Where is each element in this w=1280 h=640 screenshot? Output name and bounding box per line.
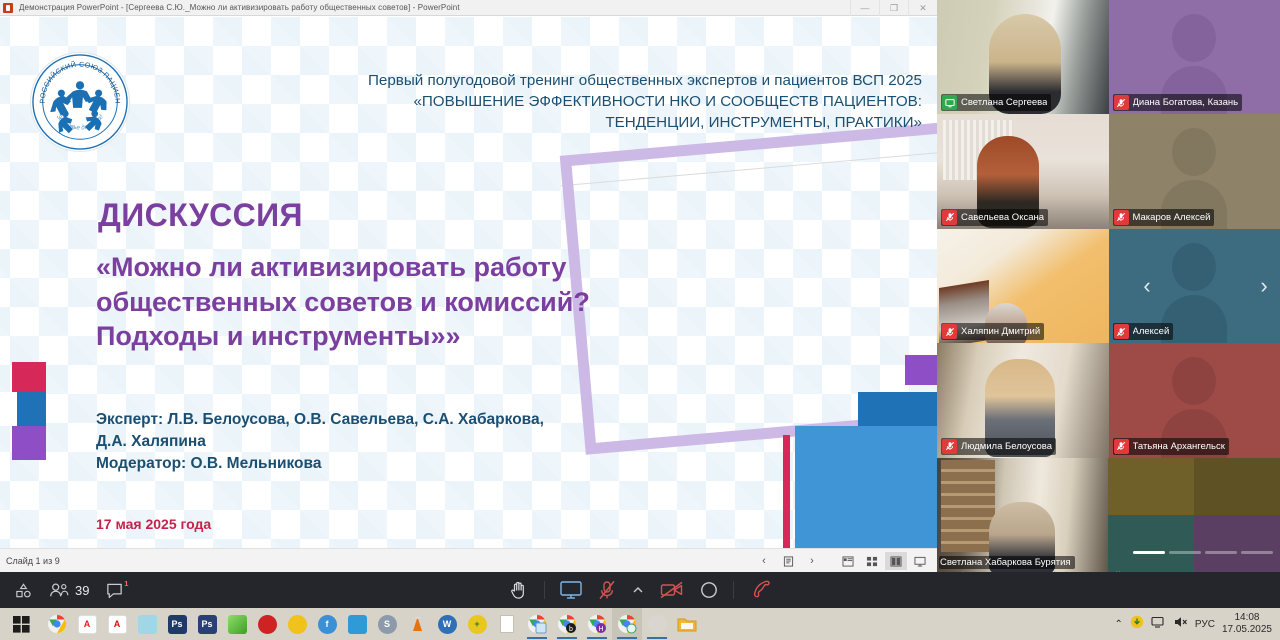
slide-header-line-1: Первый полугодовой тренинг общественных … [150,71,922,92]
windows-start-icon[interactable] [0,608,42,640]
vsp-logo-graphic: ВСЕРОССИЙСКИЙ СОЮЗ ПАЦИЕНТОВ Здоровье дл… [31,52,129,152]
restore-button[interactable]: ❐ [879,0,908,16]
window-controls: — ❐ ✕ [850,0,937,16]
taskbar-icon-plus-yellow[interactable]: + [462,608,492,640]
participant-tile[interactable]: Макаров Алексей [1109,114,1280,228]
mic-muted-icon [942,439,957,454]
slide-subtitle-line-2: общественных советов и комиссий? [96,285,796,320]
participant-name: Алексей [1133,326,1170,337]
participant-tile[interactable]: Светлана Сергеева [937,0,1109,114]
taskbar-icon-chrome-window-2[interactable]: b [552,608,582,640]
meeting-toolbar-center [508,572,772,608]
participant-name-badge: Макаров Алексей [1113,209,1215,226]
clock-time: 14:08 [1222,612,1272,625]
volume-muted-icon[interactable] [1173,615,1188,634]
page-dot[interactable] [1133,551,1165,554]
next-slide-icon[interactable]: › [801,552,823,570]
taskbar-icon-acrobat[interactable]: A [102,608,132,640]
taskbar-icon-camera-red[interactable] [252,608,282,640]
decor-left-crimson-square [12,362,46,396]
decor-left-blue-square [12,392,46,426]
screen-share-icon [942,95,957,110]
windows-taskbar: A A Ps Ps f S W + b H [0,608,1280,640]
taskbar-icon-antivirus[interactable] [222,608,252,640]
meeting-toolbar: 39 1 [0,572,1280,608]
mic-muted-icon [1114,324,1129,339]
slide-title: ДИСКУССИЯ [98,197,303,234]
slide-header: Первый полугодовой тренинг общественных … [150,71,922,134]
participant-name-badge: Диана Богатова, Казань [1113,94,1243,111]
taskbar-icon-chrome-window-1[interactable] [522,608,552,640]
window-title: Демонстрация PowerPoint - [Сергеева С.Ю.… [19,3,460,12]
participant-tile[interactable]: Людмила Белоусова [937,343,1109,457]
powerpoint-titlebar: Демонстрация PowerPoint - [Сергеева С.Ю.… [0,0,937,16]
taskbar-icon-chrome[interactable] [42,608,72,640]
toolbar-separator [733,581,734,599]
participant-name: Диана Богатова, Казань [1133,97,1239,108]
clock-date: 17.05.2025 [1222,624,1272,637]
reading-view-icon[interactable] [885,552,907,570]
page-dot[interactable] [1169,551,1201,554]
language-indicator[interactable]: РУС [1195,619,1215,630]
update-icon[interactable] [1130,615,1144,634]
taskbar-icon-chrome-window-3[interactable]: H [582,608,612,640]
slide-subtitle: «Можно ли активизировать работу обществе… [96,250,796,354]
mic-muted-icon[interactable] [597,579,617,601]
decor-purple-square [905,355,937,385]
slideshow-icon[interactable] [909,552,931,570]
participant-tile[interactable]: Светлана Хабаркова Бурятия [937,458,1109,572]
panel-page-indicator[interactable] [1133,551,1273,554]
taskbar-icon-acrobat-reader[interactable]: A [72,608,102,640]
slide-header-line-2: «ПОВЫШЕНИЕ ЭФФЕКТИВНОСТИ НКО И СООБЩЕСТВ… [150,92,922,113]
taskbar-icon-yellow-gear[interactable] [282,608,312,640]
panel-prev-button[interactable]: ‹ [1137,273,1157,299]
taskbar-icon-paint[interactable] [642,608,672,640]
network-icon[interactable] [1151,615,1166,634]
slide-counter: Слайд 1 из 9 [6,556,60,566]
participant-name-badge: Халяпин Дмитрий [941,323,1044,340]
panel-pager-background-top [1108,458,1280,515]
raise-hand-icon[interactable] [508,579,530,601]
participant-tile[interactable]: Татьяна Архангельск [1109,343,1280,457]
prev-slide-icon[interactable]: ‹ [753,552,775,570]
mic-muted-icon [942,210,957,225]
slide-canvas: ВСЕРОССИЙСКИЙ СОЮЗ ПАЦИЕНТОВ Здоровье дл… [0,17,937,548]
powerpoint-status-bar: Слайд 1 из 9 ‹ › [0,548,937,572]
decor-left-white-square [0,392,17,426]
record-icon[interactable] [699,580,719,600]
decor-crimson-bar [783,435,790,548]
participant-name-badge: Людмила Белоусова [941,438,1056,455]
participant-tile[interactable]: Савельева Оксана [937,114,1109,228]
participant-name-badge: Светлана Хабаркова Бурятия [939,556,1075,569]
decor-left-purple-square [12,426,46,460]
clock[interactable]: 14:08 17.05.2025 [1222,612,1272,637]
normal-view-icon[interactable] [837,552,859,570]
participant-name-badge: Татьяна Архангельск [1113,438,1229,455]
participant-name-badge: Светлана Сергеева [941,94,1051,111]
chevron-up-icon[interactable] [631,583,645,597]
meeting-toolbar-left: 39 1 [14,572,124,608]
taskbar-icon-chrome-window-4[interactable] [612,608,642,640]
taskbar-icon-file-explorer[interactable] [672,608,702,640]
decor-light-blue-square [795,426,937,548]
powerpoint-window: Демонстрация PowerPoint - [Сергеева С.Ю.… [0,0,937,572]
participant-tile[interactable]: Диана Богатова, Казань [1109,0,1280,114]
svg-text:H: H [598,626,603,633]
reactions-icon[interactable] [14,581,33,600]
participants-count: 39 [75,583,89,598]
slide-sorter-icon[interactable] [861,552,883,570]
vsp-logo: ВСЕРОССИЙСКИЙ СОЮЗ ПАЦИЕНТОВ Здоровье дл… [30,52,130,152]
tray-chevron-icon[interactable]: ⌃ [1115,619,1123,630]
mic-muted-icon [1114,95,1129,110]
mic-muted-icon [1114,210,1129,225]
taskbar-icon-word-old[interactable]: W [432,608,462,640]
taskbar-icon-skype[interactable]: S [372,608,402,640]
participant-name: Светлана Хабаркова Бурятия [940,557,1071,568]
page-dot[interactable] [1241,551,1273,554]
slide-experts-line-2: Д.А. Халяпина [96,431,736,453]
taskbar-icon-photoshop-2[interactable]: Ps [192,608,222,640]
participant-name: Светлана Сергеева [961,97,1047,108]
powerpoint-app-icon [3,3,13,13]
minimize-button[interactable]: — [850,0,879,16]
taskbar-icon-scanner[interactable] [342,608,372,640]
view-controls: ‹ › [753,549,931,572]
participant-name: Халяпин Дмитрий [961,326,1040,337]
chat-badge: 1 [124,579,128,588]
close-button[interactable]: ✕ [908,0,937,16]
mic-muted-icon [942,324,957,339]
video-participants-panel[interactable]: Светлана Сергеева Диана Богатова, Казань… [937,0,1280,572]
participant-tile[interactable]: Халяпин Дмитрий [937,229,1109,343]
taskbar-icon-document[interactable] [492,608,522,640]
participant-name: Татьяна Архангельск [1133,441,1225,452]
taskbar-icon-photos[interactable] [132,608,162,640]
participants-icon[interactable]: 39 [49,581,89,600]
chat-icon[interactable]: 1 [105,581,124,600]
slide-experts-line-1: Эксперт: Л.В. Белоусова, О.В. Савельева,… [96,409,736,431]
webcam-bookshelf [941,460,995,552]
camera-off-icon[interactable] [659,579,685,601]
share-screen-icon[interactable] [559,579,583,601]
participant-name: Людмила Белоусова [961,441,1052,452]
participant-name-badge: Алексей [1113,323,1174,340]
slide-subtitle-line-1: «Можно ли активизировать работу [96,250,796,285]
slide-subtitle-line-3: Подходы и инструменты»» [96,319,796,354]
slide-date: 17 мая 2025 года [96,516,211,532]
taskbar-icon-photoshop[interactable]: Ps [162,608,192,640]
page-dot[interactable] [1205,551,1237,554]
taskbar-icon-vlc[interactable] [402,608,432,640]
taskbar-icon-facebook[interactable]: f [312,608,342,640]
slide-moderator-line: Модератор: О.В. Мельникова [96,453,736,475]
participant-name-badge: Савельева Оксана [941,209,1048,226]
system-tray: ⌃ РУС 14:08 17.05.2025 [1115,608,1280,640]
participant-name: Савельева Оксана [961,212,1044,223]
mic-muted-icon [1114,439,1129,454]
participant-name: Макаров Алексей [1133,212,1211,223]
slide-experts: Эксперт: Л.В. Белоусова, О.В. Савельева,… [96,409,736,475]
svg-text:b: b [569,626,573,633]
end-call-icon[interactable] [748,579,772,601]
panel-next-button[interactable]: › [1254,273,1274,299]
notes-icon[interactable] [777,552,799,570]
toolbar-separator [544,581,545,599]
slide-header-line-3: ТЕНДЕНЦИИ, ИНСТРУМЕНТЫ, ПРАКТИКИ» [150,113,922,134]
